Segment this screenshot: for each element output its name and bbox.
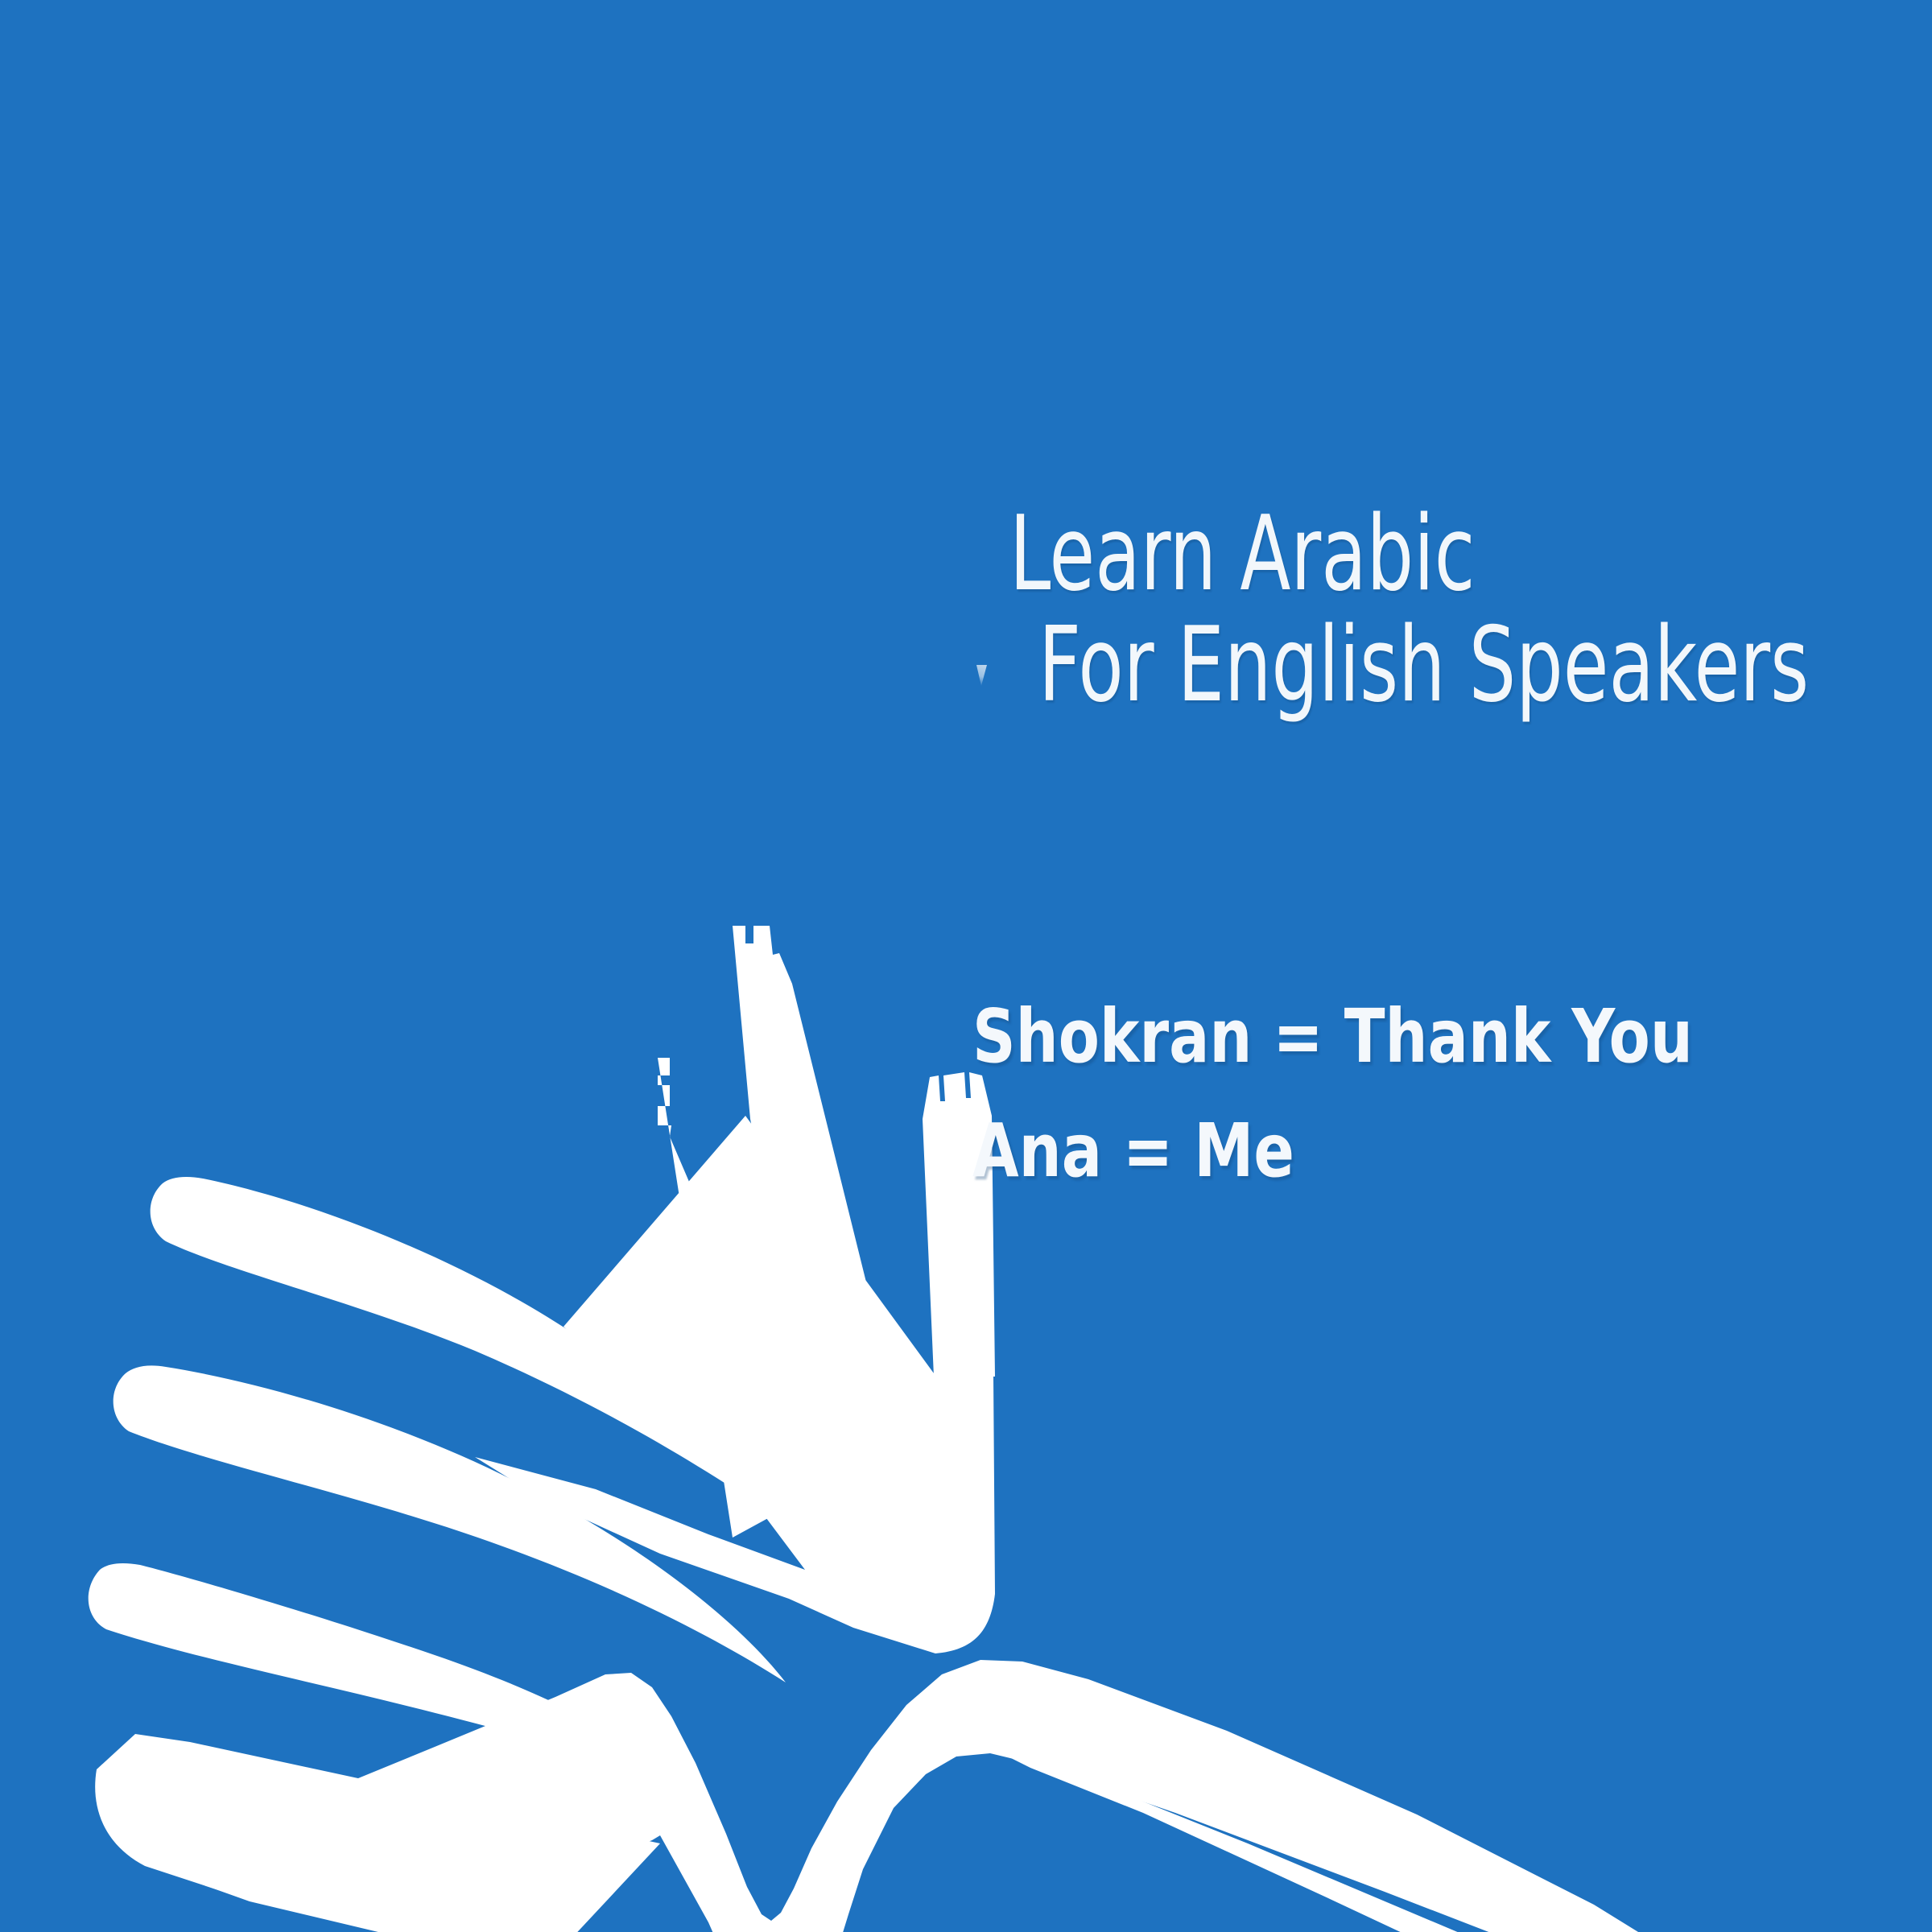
title-line-2: For English Speakers — [1038, 617, 1753, 715]
poster-canvas: Learn Arabic For English Speakers Shokra… — [0, 0, 1932, 1932]
page-title: Learn Arabic For English Speakers — [1005, 506, 1932, 714]
title-line-1: Learn Arabic — [1009, 506, 1748, 604]
vocabulary-phrase-item: Ana = Me — [972, 1114, 1769, 1188]
vocabulary-phrase-item: Shokran = Thank You — [972, 1000, 1769, 1074]
vocabulary-phrase-list: Shokran = Thank You Ana = Me — [972, 1000, 1858, 1188]
book-spread-lower — [122, 1660, 1787, 1932]
stray-apostrophe-artifact — [976, 665, 987, 686]
